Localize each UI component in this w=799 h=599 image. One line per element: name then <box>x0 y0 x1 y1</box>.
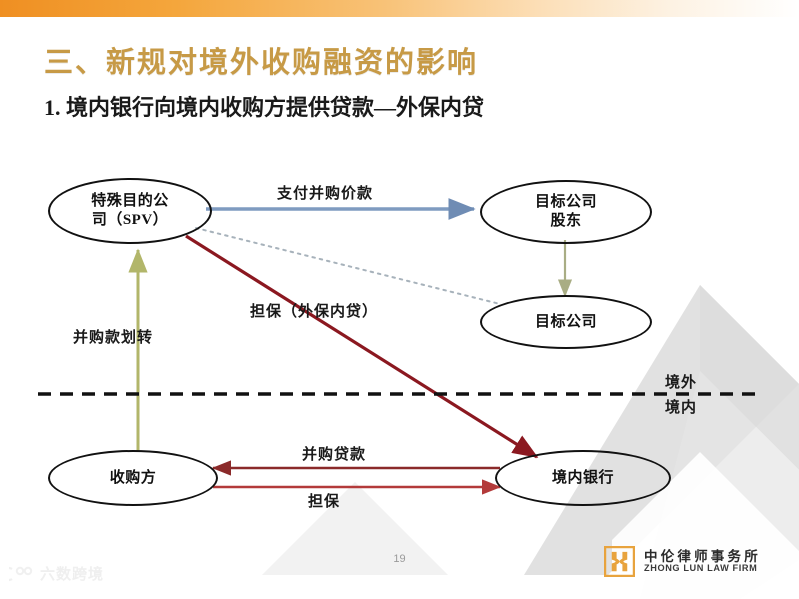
edge-label-guarantee-cross: 担保（外保内贷） <box>250 300 378 321</box>
node-acquirer[interactable]: 收购方 <box>48 450 218 506</box>
zhonglun-emblem-icon <box>604 546 635 577</box>
edge-spv-target-dotted <box>196 228 500 304</box>
node-spv-line1: 特殊目的公 <box>91 192 169 211</box>
edge-label-funds-transfer: 并购款划转 <box>73 326 153 347</box>
firm-logo: 中伦律师事务所 ZHONG LUN LAW FIRM <box>604 546 761 577</box>
node-spv-line2: 司（SPV） <box>91 211 169 230</box>
watermark-text: 六数跨境 <box>40 563 104 584</box>
firm-name-en: ZHONG LUN LAW FIRM <box>644 564 761 574</box>
edge-label-pay-price: 支付并购价款 <box>277 182 373 203</box>
node-shareholders-line2: 股东 <box>535 212 597 231</box>
node-target-company-label: 目标公司 <box>535 313 597 332</box>
boundary-label-offshore: 境外 <box>665 371 697 392</box>
watermark: 六数跨境 <box>9 563 104 584</box>
edge-label-guarantee: 担保 <box>308 490 340 511</box>
node-spv[interactable]: 特殊目的公 司（SPV） <box>48 178 212 244</box>
node-domestic-bank-label: 境内银行 <box>552 469 614 488</box>
firm-name-cn: 中伦律师事务所 <box>644 550 761 564</box>
node-shareholders-line1: 目标公司 <box>535 193 597 212</box>
diagram-connectors <box>0 0 799 599</box>
edge-guarantee-cross <box>186 236 537 457</box>
node-acquirer-label: 收购方 <box>110 469 157 488</box>
edge-label-ma-loan: 并购贷款 <box>302 443 366 464</box>
boundary-label-onshore: 境内 <box>665 396 697 417</box>
node-domestic-bank[interactable]: 境内银行 <box>495 450 671 506</box>
slide-canvas: 三、新规对境外收购融资的影响 1. 境内银行向境内收购方提供贷款—外保内贷 <box>0 0 799 599</box>
watermark-icon <box>9 565 35 583</box>
node-target-company[interactable]: 目标公司 <box>480 295 652 349</box>
node-shareholders[interactable]: 目标公司 股东 <box>480 180 652 244</box>
